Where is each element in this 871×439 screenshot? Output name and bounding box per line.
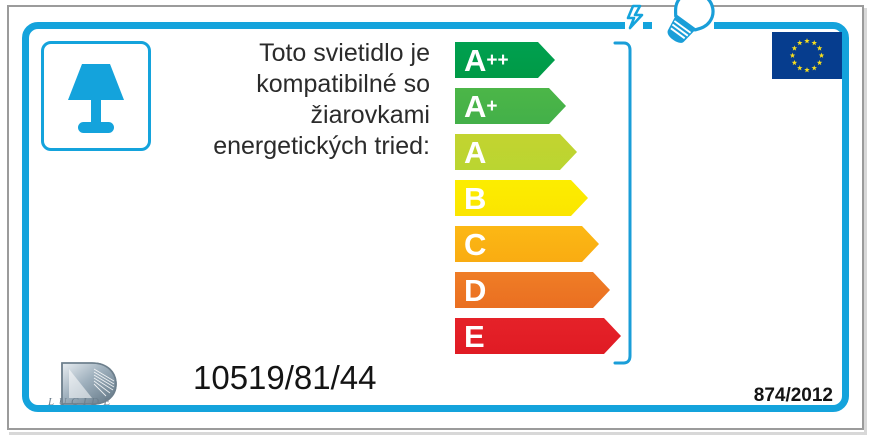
lucide-wordmark: LUCIDE [48,396,115,408]
energy-class-arrow: A+ [455,88,566,124]
energy-class-arrow: D [455,272,610,308]
table-lamp-icon [41,41,151,151]
energy-class-arrow: B [455,180,588,216]
headline-line-4: energetických tried: [175,131,430,162]
energy-class-arrow: E [455,318,621,354]
frame-shadow-bottom [9,432,866,435]
energy-class-label: D [464,272,486,308]
headline-line-2: kompatibilné so [175,69,430,100]
headline-line-3: žiarovkami [175,100,430,131]
headline-text: Toto svietidlo je kompatibilné so žiarov… [175,38,430,162]
light-bulb-icon [650,0,722,48]
regulation-number: 874/2012 [754,385,833,407]
class-range-bracket [612,40,634,366]
energy-class-label: A+ [464,88,498,124]
energy-class-label: B [464,180,486,216]
headline-line-1: Toto svietidlo je [175,38,430,69]
energy-class-label: C [464,226,486,262]
energy-class-label: E [464,318,485,354]
energy-class-list: A++A+ABCDE [455,42,615,364]
energy-class-label: A++ [464,42,509,78]
energy-label-root: Toto svietidlo je kompatibilné so žiarov… [0,0,871,439]
energy-class-arrow: A [455,134,577,170]
energy-class-label: A [464,134,486,170]
energy-class-arrow: C [455,226,599,262]
model-number: 10519/81/44 [193,359,377,397]
frame-shadow-right [864,8,867,435]
lightning-notch-icon [620,2,650,34]
eu-flag [772,32,842,79]
energy-class-arrow: A++ [455,42,555,78]
